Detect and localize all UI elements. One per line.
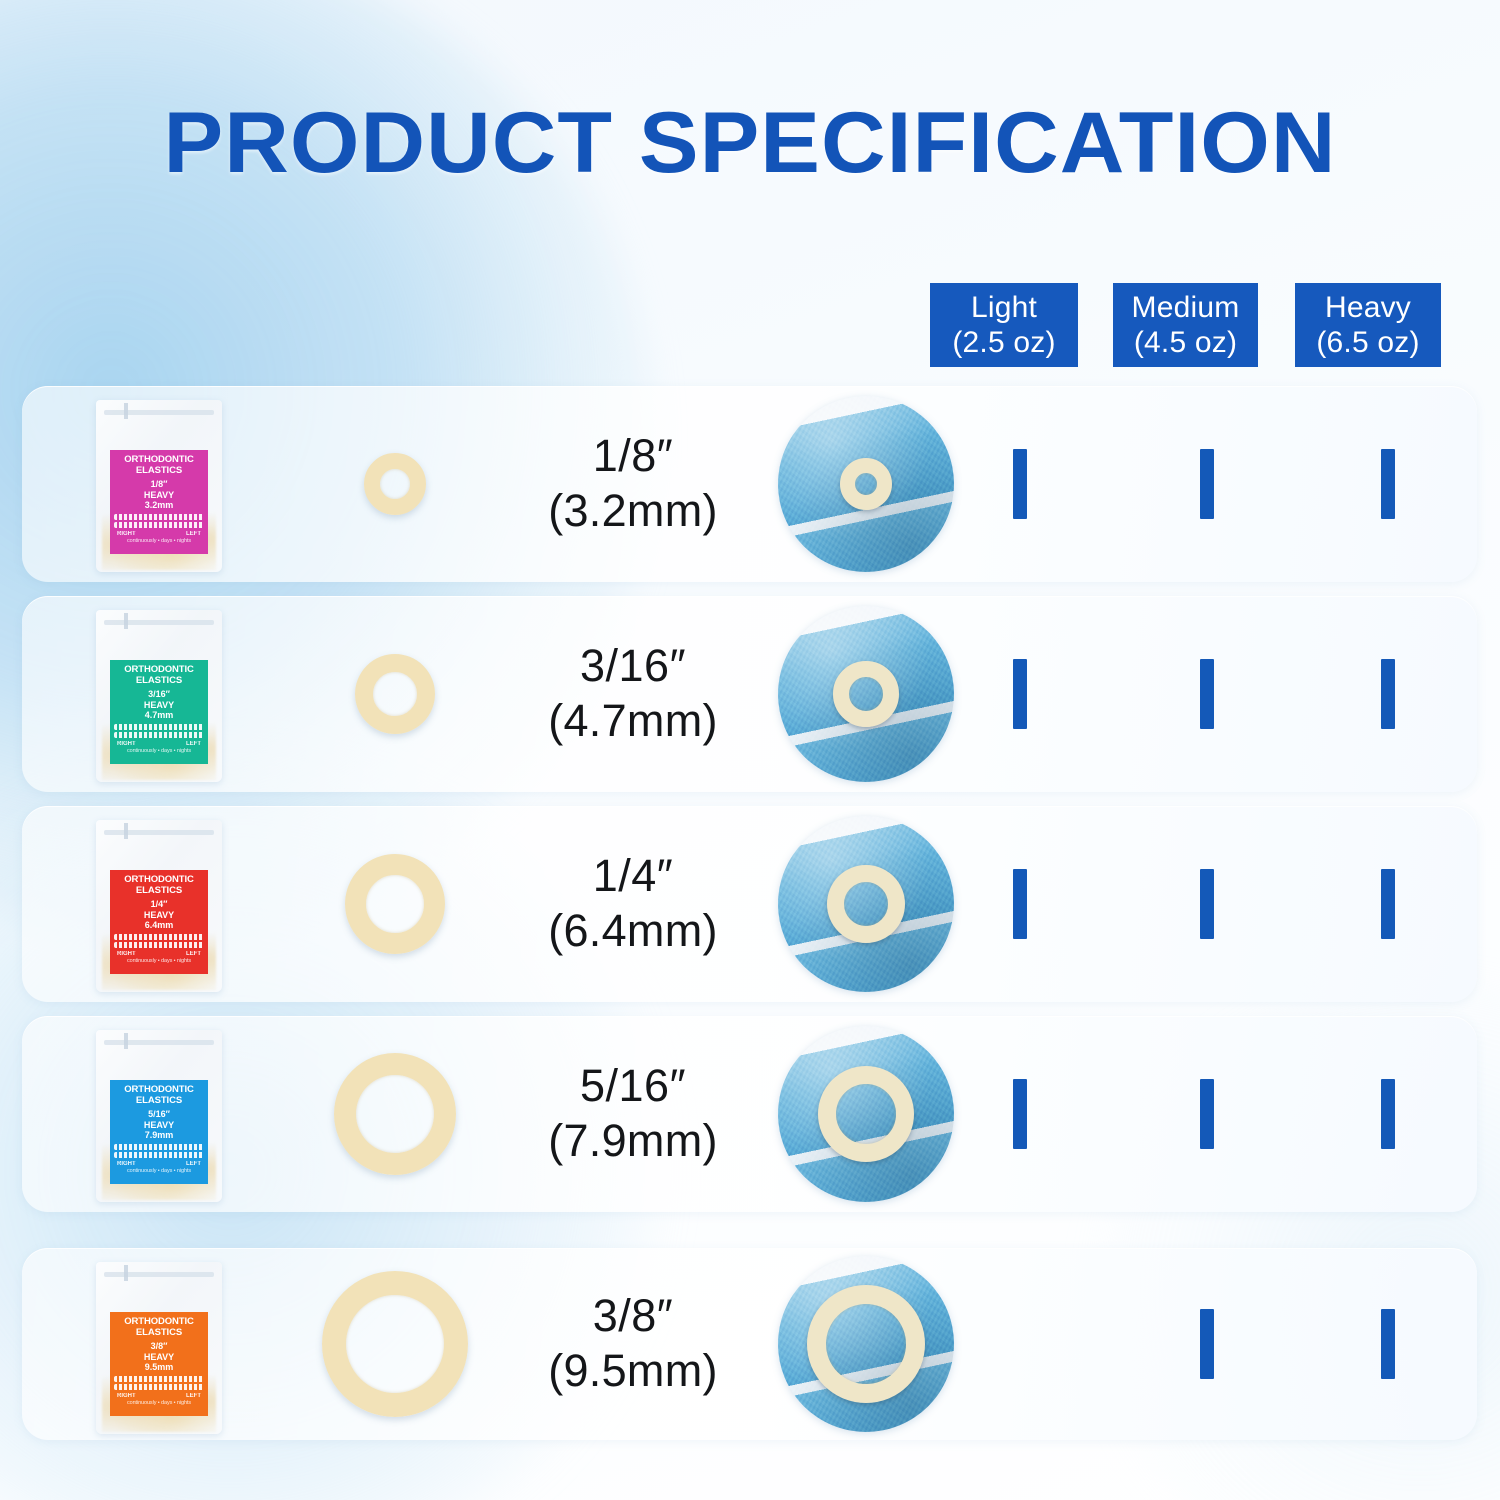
bag-label-force: HEAVY <box>113 1120 205 1131</box>
bag-label-brand-line1: ORTHODONTIC <box>113 1317 205 1328</box>
in-hand-photo-cell <box>766 806 966 1002</box>
bag-label-footer: continuously • days • nights <box>113 538 205 545</box>
bag-label: ORTHODONTICELASTICS5/16″HEAVY7.9mmRIGHTL… <box>110 1080 208 1184</box>
size-millimeters: (3.2mm) <box>548 483 718 539</box>
size-inches: 3/16″ <box>580 639 686 693</box>
elastic-band-ring <box>364 453 426 515</box>
bag-label-sides: RIGHTLEFT <box>113 1393 205 1400</box>
elastic-band-ring <box>355 654 435 734</box>
elastic-band-on-glove <box>827 865 905 943</box>
product-bag-photo: ORTHODONTICELASTICS5/16″HEAVY7.9mmRIGHTL… <box>96 1030 222 1202</box>
availability-mark-medium <box>1200 659 1214 729</box>
table-row: ORTHODONTICELASTICS1/4″HEAVY6.4mmRIGHTLE… <box>22 806 1477 1002</box>
availability-mark-medium <box>1200 449 1214 519</box>
product-bag-cell: ORTHODONTICELASTICS3/8″HEAVY9.5mmRIGHTLE… <box>74 1248 274 1440</box>
product-bag-photo: ORTHODONTICELASTICS1/8″HEAVY3.2mmRIGHTLE… <box>96 400 222 572</box>
bag-label-footer: continuously • days • nights <box>113 1168 205 1175</box>
elastic-band-cell <box>290 806 500 1002</box>
availability-mark-heavy <box>1381 869 1395 939</box>
force-header-value: (2.5 oz) <box>952 325 1055 360</box>
bag-label-force: HEAVY <box>113 700 205 711</box>
product-bag-cell: ORTHODONTICELASTICS1/8″HEAVY3.2mmRIGHTLE… <box>74 386 274 582</box>
availability-mark-heavy <box>1381 449 1395 519</box>
size-millimeters: (9.5mm) <box>548 1343 718 1399</box>
elastic-band-cell <box>290 1016 500 1212</box>
size-cell: 5/16″(7.9mm) <box>500 1016 766 1212</box>
bag-label-mm: 4.7mm <box>113 710 205 721</box>
force-header-value: (6.5 oz) <box>1316 325 1419 360</box>
bag-label-side-right: RIGHT <box>117 531 136 538</box>
bag-label-footer: continuously • days • nights <box>113 1400 205 1407</box>
bag-label-side-right: RIGHT <box>117 1161 136 1168</box>
size-inches: 5/16″ <box>580 1059 686 1113</box>
availability-mark-light <box>1013 659 1027 729</box>
force-header-name: Heavy <box>1325 290 1411 325</box>
availability-mark-light <box>1013 449 1027 519</box>
size-cell: 3/16″(4.7mm) <box>500 596 766 792</box>
table-row: ORTHODONTICELASTICS3/8″HEAVY9.5mmRIGHTLE… <box>22 1248 1477 1440</box>
bag-label-brand-line2: ELASTICS <box>113 1096 205 1107</box>
product-bag-cell: ORTHODONTICELASTICS3/16″HEAVY4.7mmRIGHTL… <box>74 596 274 792</box>
bag-label-footer: continuously • days • nights <box>113 958 205 965</box>
bag-label-mm: 9.5mm <box>113 1362 205 1373</box>
availability-mark-heavy <box>1381 659 1395 729</box>
teeth-diagram-icon <box>113 1144 205 1158</box>
bag-label-size: 5/16″ <box>113 1109 205 1120</box>
elastic-band-cell <box>290 1248 500 1440</box>
bag-label-brand-line1: ORTHODONTIC <box>113 455 205 466</box>
bag-label-side-left: LEFT <box>186 1161 201 1168</box>
availability-mark-medium <box>1200 1309 1214 1379</box>
elastic-band-ring <box>345 854 445 954</box>
teeth-diagram-icon <box>113 724 205 738</box>
force-header-light: Light(2.5 oz) <box>930 283 1078 367</box>
availability-mark-light <box>1013 1079 1027 1149</box>
bag-label-side-left: LEFT <box>186 1393 201 1400</box>
availability-mark-medium <box>1200 1079 1214 1149</box>
bag-label-side-right: RIGHT <box>117 741 136 748</box>
elastic-band-on-glove <box>818 1066 914 1162</box>
bag-label-sides: RIGHTLEFT <box>113 531 205 538</box>
bag-label-mm: 6.4mm <box>113 920 205 931</box>
bag-label-mm: 3.2mm <box>113 500 205 511</box>
availability-mark-heavy <box>1381 1309 1395 1379</box>
availability-mark-heavy <box>1381 1079 1395 1149</box>
bag-label-footer: continuously • days • nights <box>113 748 205 755</box>
bag-label-sides: RIGHTLEFT <box>113 1161 205 1168</box>
bag-label-side-left: LEFT <box>186 741 201 748</box>
elastic-band-ring <box>334 1053 456 1175</box>
table-row: ORTHODONTICELASTICS3/16″HEAVY4.7mmRIGHTL… <box>22 596 1477 792</box>
force-header-name: Light <box>971 290 1037 325</box>
force-header-medium: Medium(4.5 oz) <box>1113 283 1258 367</box>
bag-label-side-right: RIGHT <box>117 951 136 958</box>
size-inches: 1/8″ <box>593 429 674 483</box>
bag-label-side-left: LEFT <box>186 951 201 958</box>
in-hand-photo-cell <box>766 386 966 582</box>
in-hand-photo-cell <box>766 1248 966 1440</box>
size-millimeters: (6.4mm) <box>548 903 718 959</box>
force-header-name: Medium <box>1132 290 1240 325</box>
in-hand-photo <box>778 396 954 572</box>
bag-label-side-left: LEFT <box>186 531 201 538</box>
product-specification-page: PRODUCT SPECIFICATION Light(2.5 oz)Mediu… <box>0 0 1500 1500</box>
bag-label: ORTHODONTICELASTICS1/4″HEAVY6.4mmRIGHTLE… <box>110 870 208 974</box>
bag-label-size: 3/16″ <box>113 689 205 700</box>
elastic-band-on-glove <box>807 1285 925 1403</box>
size-cell: 1/8″(3.2mm) <box>500 386 766 582</box>
bag-label-brand-line2: ELASTICS <box>113 676 205 687</box>
bag-label-brand-line1: ORTHODONTIC <box>113 1085 205 1096</box>
elastic-band-cell <box>290 596 500 792</box>
bag-label-brand-line2: ELASTICS <box>113 886 205 897</box>
in-hand-photo <box>778 816 954 992</box>
elastic-band-ring <box>322 1271 468 1417</box>
product-bag-photo: ORTHODONTICELASTICS3/8″HEAVY9.5mmRIGHTLE… <box>96 1262 222 1434</box>
bag-label-brand-line2: ELASTICS <box>113 466 205 477</box>
bag-label-force: HEAVY <box>113 1352 205 1363</box>
teeth-diagram-icon <box>113 934 205 948</box>
availability-mark-medium <box>1200 869 1214 939</box>
bag-label-brand-line1: ORTHODONTIC <box>113 875 205 886</box>
product-bag-cell: ORTHODONTICELASTICS5/16″HEAVY7.9mmRIGHTL… <box>74 1016 274 1212</box>
in-hand-photo-cell <box>766 1016 966 1212</box>
bag-label-side-right: RIGHT <box>117 1393 136 1400</box>
bag-label: ORTHODONTICELASTICS1/8″HEAVY3.2mmRIGHTLE… <box>110 450 208 554</box>
size-millimeters: (7.9mm) <box>548 1113 718 1169</box>
in-hand-photo-cell <box>766 596 966 792</box>
elastic-band-on-glove <box>833 661 899 727</box>
elastic-band-on-glove <box>840 458 892 510</box>
page-title: PRODUCT SPECIFICATION <box>0 95 1500 191</box>
table-row: ORTHODONTICELASTICS1/8″HEAVY3.2mmRIGHTLE… <box>22 386 1477 582</box>
force-column-headers: Light(2.5 oz)Medium(4.5 oz)Heavy(6.5 oz) <box>0 283 1500 367</box>
size-millimeters: (4.7mm) <box>548 693 718 749</box>
availability-mark-light <box>1013 869 1027 939</box>
bag-label-size: 1/8″ <box>113 479 205 490</box>
bag-label: ORTHODONTICELASTICS3/16″HEAVY4.7mmRIGHTL… <box>110 660 208 764</box>
product-bag-photo: ORTHODONTICELASTICS3/16″HEAVY4.7mmRIGHTL… <box>96 610 222 782</box>
in-hand-photo <box>778 1256 954 1432</box>
bag-label-sides: RIGHTLEFT <box>113 741 205 748</box>
table-row: ORTHODONTICELASTICS5/16″HEAVY7.9mmRIGHTL… <box>22 1016 1477 1212</box>
in-hand-photo <box>778 1026 954 1202</box>
size-cell: 3/8″(9.5mm) <box>500 1248 766 1440</box>
force-header-heavy: Heavy(6.5 oz) <box>1295 283 1441 367</box>
bag-label-brand-line2: ELASTICS <box>113 1328 205 1339</box>
elastic-band-cell <box>290 386 500 582</box>
size-cell: 1/4″(6.4mm) <box>500 806 766 1002</box>
bag-label-force: HEAVY <box>113 490 205 501</box>
teeth-diagram-icon <box>113 1376 205 1390</box>
size-inches: 1/4″ <box>593 849 674 903</box>
force-header-value: (4.5 oz) <box>1134 325 1237 360</box>
size-inches: 3/8″ <box>593 1289 674 1343</box>
in-hand-photo <box>778 606 954 782</box>
bag-label: ORTHODONTICELASTICS3/8″HEAVY9.5mmRIGHTLE… <box>110 1312 208 1416</box>
bag-label-force: HEAVY <box>113 910 205 921</box>
bag-label-size: 3/8″ <box>113 1341 205 1352</box>
bag-label-size: 1/4″ <box>113 899 205 910</box>
teeth-diagram-icon <box>113 514 205 528</box>
bag-label-brand-line1: ORTHODONTIC <box>113 665 205 676</box>
bag-label-mm: 7.9mm <box>113 1130 205 1141</box>
bag-label-sides: RIGHTLEFT <box>113 951 205 958</box>
product-bag-cell: ORTHODONTICELASTICS1/4″HEAVY6.4mmRIGHTLE… <box>74 806 274 1002</box>
product-bag-photo: ORTHODONTICELASTICS1/4″HEAVY6.4mmRIGHTLE… <box>96 820 222 992</box>
